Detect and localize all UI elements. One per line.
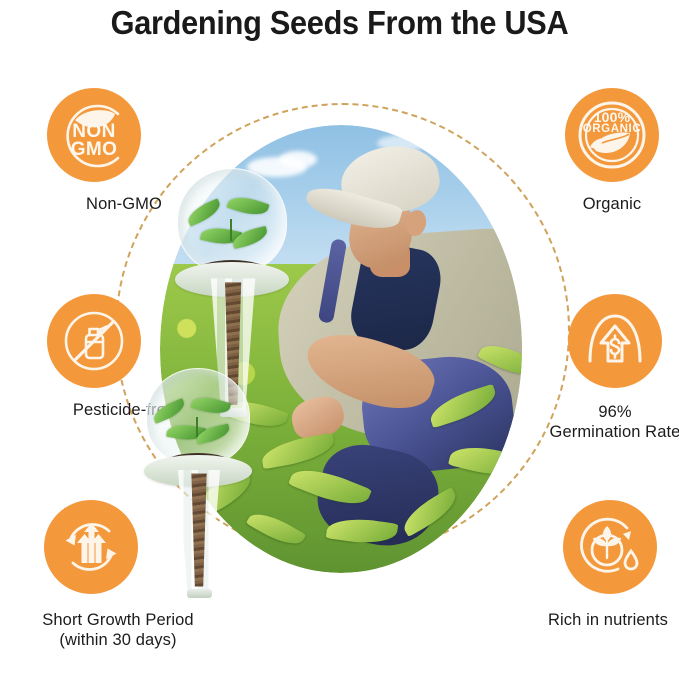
pod-stem: [175, 470, 223, 593]
seed-pod-device-upper: [177, 168, 287, 398]
up-arrow-dollar-icon: [568, 294, 662, 388]
badge-label-short-growth-period: Short Growth Period (within 30 days): [3, 610, 233, 650]
badge-label-line-1: Short Growth Period: [3, 610, 233, 630]
infographic-root: Gardening Seeds From the USA: [0, 0, 679, 673]
badge-non-gmo[interactable]: NON GMO Non-GMO: [47, 88, 141, 182]
page-title: Gardening Seeds From the USA: [24, 4, 655, 42]
leaf-circle-icon: NON GMO: [47, 88, 141, 182]
seed-pod-device-lower: [146, 368, 250, 580]
badge-organic[interactable]: 100% ORGANIC Organic: [565, 88, 659, 182]
pod-sprout-stem: [230, 219, 232, 241]
growth-arrows-cycle-icon: [44, 500, 138, 594]
organic-seal-leaves-icon: 100% ORGANIC: [565, 88, 659, 182]
badge-short-growth-period[interactable]: Short Growth Period (within 30 days): [44, 500, 138, 594]
no-spray-bottle-icon: [47, 294, 141, 388]
pod-sprout-stem: [196, 417, 198, 437]
badge-label-line-2: (within 30 days): [3, 630, 233, 650]
badge-pesticide-free[interactable]: Pesticide-free: [47, 294, 141, 388]
badge-label-organic: Organic: [497, 194, 679, 214]
badge-label-germination-rate: 96% Germination Rate: [500, 402, 679, 442]
plant-water-drop-icon: [563, 500, 657, 594]
badge-label-line-1: 96%: [500, 402, 679, 422]
badge-label-rich-in-nutrients: Rich in nutrients: [493, 610, 679, 630]
badge-rich-in-nutrients[interactable]: Rich in nutrients: [563, 500, 657, 594]
pod-foot: [187, 589, 213, 598]
badge-label-line-2: Germination Rate: [500, 422, 679, 442]
badge-germination-rate[interactable]: 96% Germination Rate: [568, 294, 662, 388]
